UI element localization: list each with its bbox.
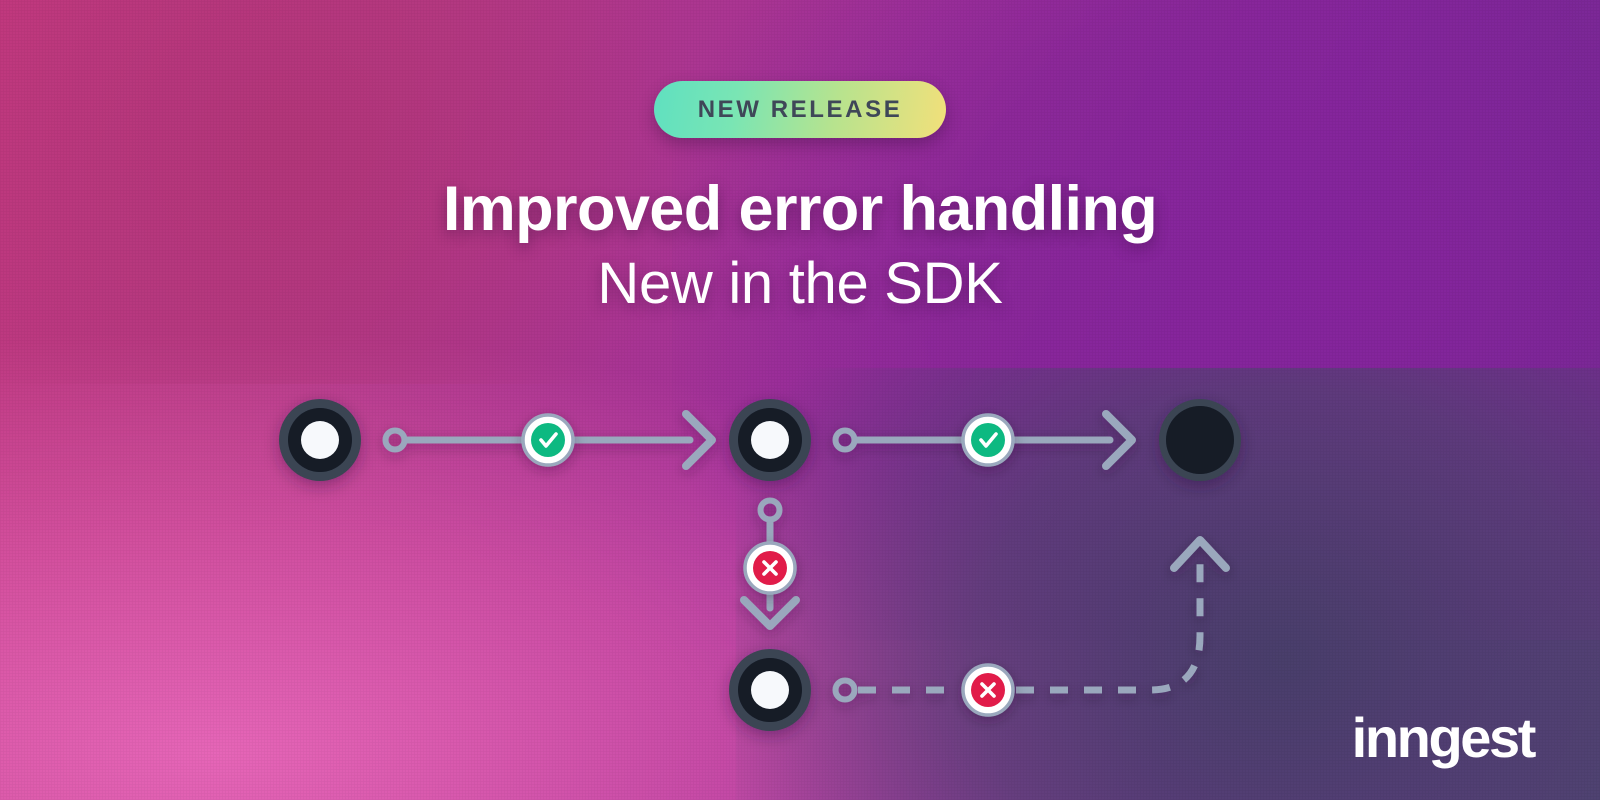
- inngest-logo-wordmark: inngest: [1352, 710, 1534, 766]
- marker-failure-2: [963, 665, 1013, 715]
- marker-success-1: [523, 415, 573, 465]
- marker-success-2: [963, 415, 1013, 465]
- poster-content: NEW RELEASE Improved error handling New …: [0, 0, 1600, 800]
- poster-canvas: NEW RELEASE Improved error handling New …: [0, 0, 1600, 800]
- edge-retry-to-end: [836, 540, 1227, 700]
- node-middle: [729, 399, 811, 481]
- node-start: [279, 399, 361, 481]
- marker-failure-1: [745, 543, 795, 593]
- node-end: [1159, 399, 1241, 481]
- workflow-diagram: [0, 0, 1600, 800]
- node-retry-branch: [729, 649, 811, 731]
